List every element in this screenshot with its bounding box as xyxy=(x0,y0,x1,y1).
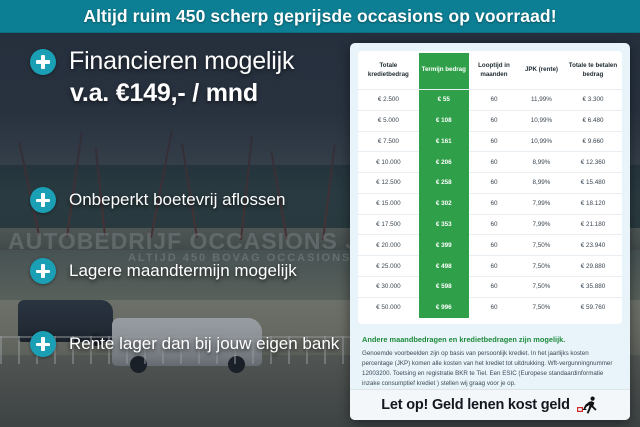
table-cell: € 258 xyxy=(419,173,469,194)
table-cell: € 353 xyxy=(419,214,469,235)
promo-column: Financieren mogelijk v.a. €149,- / mnd O… xyxy=(0,33,348,427)
top-banner-text: Altijd ruim 450 scherp geprijsde occasio… xyxy=(83,6,556,27)
table-row: € 30.000€ 598607,50%€ 35.880 xyxy=(358,277,622,298)
table-cell: 8,99% xyxy=(519,173,564,194)
plus-icon xyxy=(30,331,56,357)
table-cell: 60 xyxy=(469,152,519,173)
table-cell: € 108 xyxy=(419,110,469,131)
table-cell: € 23.940 xyxy=(564,235,622,256)
table-cell: 7,99% xyxy=(519,193,564,214)
table-cell: € 598 xyxy=(419,277,469,298)
finance-table-wrapper: Totale kredietbedragTermijn bedragLoopti… xyxy=(358,51,622,324)
table-cell: 8,99% xyxy=(519,152,564,173)
table-cell: € 20.000 xyxy=(358,235,419,256)
plus-icon xyxy=(30,258,56,284)
table-header-cell: Totale kredietbedrag xyxy=(358,53,419,89)
promo-headline-line2: v.a. €149,- / mnd xyxy=(30,79,342,108)
table-cell: € 12.500 xyxy=(358,173,419,194)
table-cell: € 35.880 xyxy=(564,277,622,298)
table-cell: 60 xyxy=(469,110,519,131)
notice-title: Andere maandbedragen en kredietbedragen … xyxy=(350,324,630,345)
table-cell: € 55 xyxy=(419,89,469,110)
table-cell: € 50.000 xyxy=(358,297,419,317)
table-body: € 2.500€ 556011,99%€ 3.300€ 5.000€ 10860… xyxy=(358,89,622,317)
table-cell: 7,50% xyxy=(519,297,564,317)
promo-bullet-rente-lager: Rente lager dan bij jouw eigen bank xyxy=(30,331,339,357)
table-cell: € 29.880 xyxy=(564,256,622,277)
table-row: € 15.000€ 302607,99%€ 18.120 xyxy=(358,193,622,214)
table-cell: 60 xyxy=(469,235,519,256)
table-cell: € 21.180 xyxy=(564,214,622,235)
promo-bullet-label: Lagere maandtermijn mogelijk xyxy=(69,261,297,281)
advertisement-banner: AUTOBEDRIJF OCCASIONS JOHAN MEURE ALTIJD… xyxy=(0,0,640,427)
table-cell: € 161 xyxy=(419,131,469,152)
finance-info-card: Totale kredietbedragTermijn bedragLoopti… xyxy=(350,43,630,420)
table-cell: 60 xyxy=(469,173,519,194)
table-cell: € 3.300 xyxy=(564,89,622,110)
table-header-cell: Looptijd in maanden xyxy=(469,53,519,89)
table-header-cell: JPK (rente) xyxy=(519,53,564,89)
table-cell: € 302 xyxy=(419,193,469,214)
table-row: € 7.500€ 1616010,99%€ 9.660 xyxy=(358,131,622,152)
table-cell: 60 xyxy=(469,89,519,110)
table-cell: 60 xyxy=(469,297,519,317)
table-cell: 7,50% xyxy=(519,256,564,277)
warning-bar: Let op! Geld lenen kost geld xyxy=(350,389,630,420)
table-cell: € 25.000 xyxy=(358,256,419,277)
table-cell: 60 xyxy=(469,277,519,298)
table-cell: € 206 xyxy=(419,152,469,173)
table-cell: 11,99% xyxy=(519,89,564,110)
top-banner: Altijd ruim 450 scherp geprijsde occasio… xyxy=(0,0,640,33)
notice-body: Genoemde voorbeelden zijn op basis van p… xyxy=(350,344,630,389)
table-row: € 10.000€ 206608,99%€ 12.360 xyxy=(358,152,622,173)
promo-bullet-onbeperkt-aflossen: Onbeperkt boetevrij aflossen xyxy=(30,187,285,213)
table-cell: € 9.660 xyxy=(564,131,622,152)
table-header-cell: Termijn bedrag xyxy=(419,53,469,89)
warning-text: Let op! Geld lenen kost geld xyxy=(381,397,570,413)
finance-table: Totale kredietbedragTermijn bedragLoopti… xyxy=(358,53,622,318)
table-cell: 60 xyxy=(469,256,519,277)
table-cell: € 5.000 xyxy=(358,110,419,131)
table-row: € 20.000€ 399607,50%€ 23.940 xyxy=(358,235,622,256)
table-header-cell: Totale te betalen bedrag xyxy=(564,53,622,89)
table-cell: € 12.360 xyxy=(564,152,622,173)
table-row: € 12.500€ 258608,99%€ 15.480 xyxy=(358,173,622,194)
table-cell: 10,99% xyxy=(519,131,564,152)
plus-icon xyxy=(30,49,56,75)
table-cell: 10,99% xyxy=(519,110,564,131)
plus-icon xyxy=(30,187,56,213)
table-cell: 60 xyxy=(469,131,519,152)
promo-headline-line1: Financieren mogelijk xyxy=(69,47,294,76)
table-cell: € 2.500 xyxy=(358,89,419,110)
table-cell: € 15.000 xyxy=(358,193,419,214)
table-cell: € 498 xyxy=(419,256,469,277)
table-cell: € 7.500 xyxy=(358,131,419,152)
table-cell: € 30.000 xyxy=(358,277,419,298)
promo-bullet-label: Rente lager dan bij jouw eigen bank xyxy=(69,334,339,354)
table-row: € 2.500€ 556011,99%€ 3.300 xyxy=(358,89,622,110)
table-row: € 17.500€ 353607,99%€ 21.180 xyxy=(358,214,622,235)
table-cell: 60 xyxy=(469,214,519,235)
promo-bullet-lagere-maandtermijn: Lagere maandtermijn mogelijk xyxy=(30,258,297,284)
table-cell: € 6.480 xyxy=(564,110,622,131)
table-cell: 60 xyxy=(469,193,519,214)
table-cell: € 18.120 xyxy=(564,193,622,214)
table-cell: € 17.500 xyxy=(358,214,419,235)
table-row: € 5.000€ 1086010,99%€ 6.480 xyxy=(358,110,622,131)
table-cell: 7,50% xyxy=(519,277,564,298)
promo-bullet-label: Onbeperkt boetevrij aflossen xyxy=(69,190,285,210)
table-cell: 7,99% xyxy=(519,214,564,235)
table-header-row: Totale kredietbedragTermijn bedragLoopti… xyxy=(358,53,622,89)
table-cell: € 996 xyxy=(419,297,469,317)
afm-running-man-icon xyxy=(577,396,599,415)
table-cell: € 15.480 xyxy=(564,173,622,194)
table-cell: € 10.000 xyxy=(358,152,419,173)
table-row: € 25.000€ 498607,50%€ 29.880 xyxy=(358,256,622,277)
promo-headline: Financieren mogelijk v.a. €149,- / mnd xyxy=(30,47,342,108)
table-cell: € 399 xyxy=(419,235,469,256)
table-cell: 7,50% xyxy=(519,235,564,256)
table-row: € 50.000€ 996607,50%€ 59.760 xyxy=(358,297,622,317)
table-cell: € 59.760 xyxy=(564,297,622,317)
